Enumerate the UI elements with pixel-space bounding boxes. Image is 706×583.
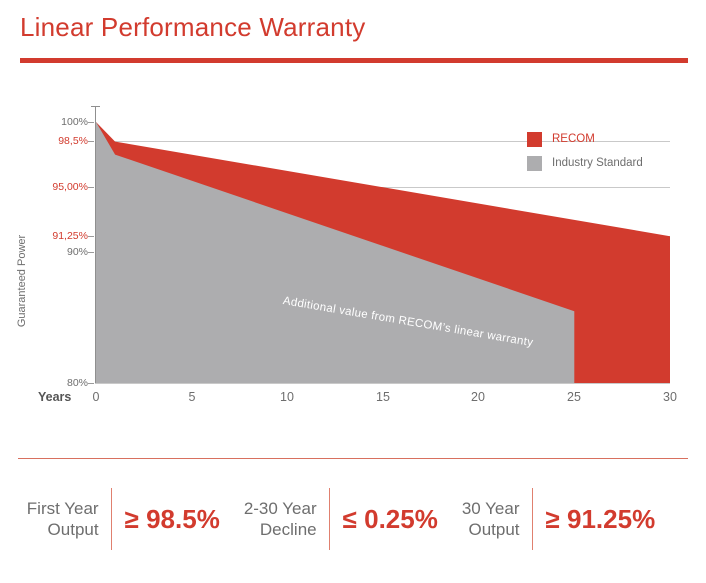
- x-tick-label-25: 25: [554, 390, 594, 404]
- legend-item-industry-standard[interactable]: Industry Standard: [527, 152, 697, 174]
- y-tick-100: [88, 122, 94, 123]
- stat-first-year-output: First Year Output ≥ 98.5%: [27, 488, 244, 550]
- x-tick-label-20: 20: [458, 390, 498, 404]
- page-header: Linear Performance Warranty: [0, 0, 706, 72]
- stat-label-decline: 2-30 Year Decline: [244, 498, 329, 541]
- stat-value-thirty-year-output: ≥ 91.25%: [533, 504, 680, 535]
- stat-value-first-year-output: ≥ 98.5%: [112, 504, 244, 535]
- stat-value-decline: ≤ 0.25%: [330, 504, 462, 535]
- stats-row: First Year Output ≥ 98.5% 2-30 Year Decl…: [0, 488, 706, 550]
- stat-decline: 2-30 Year Decline ≤ 0.25%: [244, 488, 462, 550]
- legend-label-industry-standard: Industry Standard: [552, 157, 643, 169]
- chart-container: Guaranteed Power 100% 98,5% 95,00% 91,25…: [0, 90, 706, 420]
- legend-swatch-recom: [527, 132, 542, 147]
- chart-legend: RECOM Industry Standard: [527, 128, 697, 176]
- footer-divider: [18, 458, 688, 459]
- legend-swatch-industry-standard: [527, 156, 542, 171]
- y-tick-91-25: [88, 236, 94, 237]
- x-tick-label-5: 5: [172, 390, 212, 404]
- y-tick-label-90: 90%: [28, 247, 88, 258]
- header-divider: [20, 58, 688, 63]
- x-axis-tick-labels: Years 0 5 10 15 20 25 30: [0, 390, 706, 416]
- y-tick-label-98-5: 98,5%: [28, 136, 88, 147]
- legend-label-recom: RECOM: [552, 133, 595, 145]
- y-tick-98-5: [88, 141, 94, 142]
- legend-item-recom[interactable]: RECOM: [527, 128, 697, 150]
- y-tick-label-95: 95,00%: [28, 182, 88, 193]
- x-tick-label-15: 15: [363, 390, 403, 404]
- x-tick-label-10: 10: [267, 390, 307, 404]
- x-axis-title: Years: [38, 390, 71, 404]
- page-title: Linear Performance Warranty: [20, 12, 365, 43]
- y-axis-tick-labels: 100% 98,5% 95,00% 91,25% 90% 80%: [18, 90, 88, 420]
- footer-stats-section: First Year Output ≥ 98.5% 2-30 Year Decl…: [0, 440, 706, 583]
- y-tick-95: [88, 187, 94, 188]
- x-tick-label-0: 0: [76, 390, 116, 404]
- x-tick-label-30: 30: [650, 390, 690, 404]
- stat-thirty-year-output: 30 Year Output ≥ 91.25%: [462, 488, 679, 550]
- stat-label-thirty-year-output: 30 Year Output: [462, 498, 532, 541]
- y-tick-label-91-25: 91,25%: [28, 231, 88, 242]
- y-tick-label-100: 100%: [28, 117, 88, 128]
- stat-label-first-year-output: First Year Output: [27, 498, 111, 541]
- y-tick-80: [88, 383, 94, 384]
- y-tick-90: [88, 252, 94, 253]
- y-tick-label-80: 80%: [28, 378, 88, 389]
